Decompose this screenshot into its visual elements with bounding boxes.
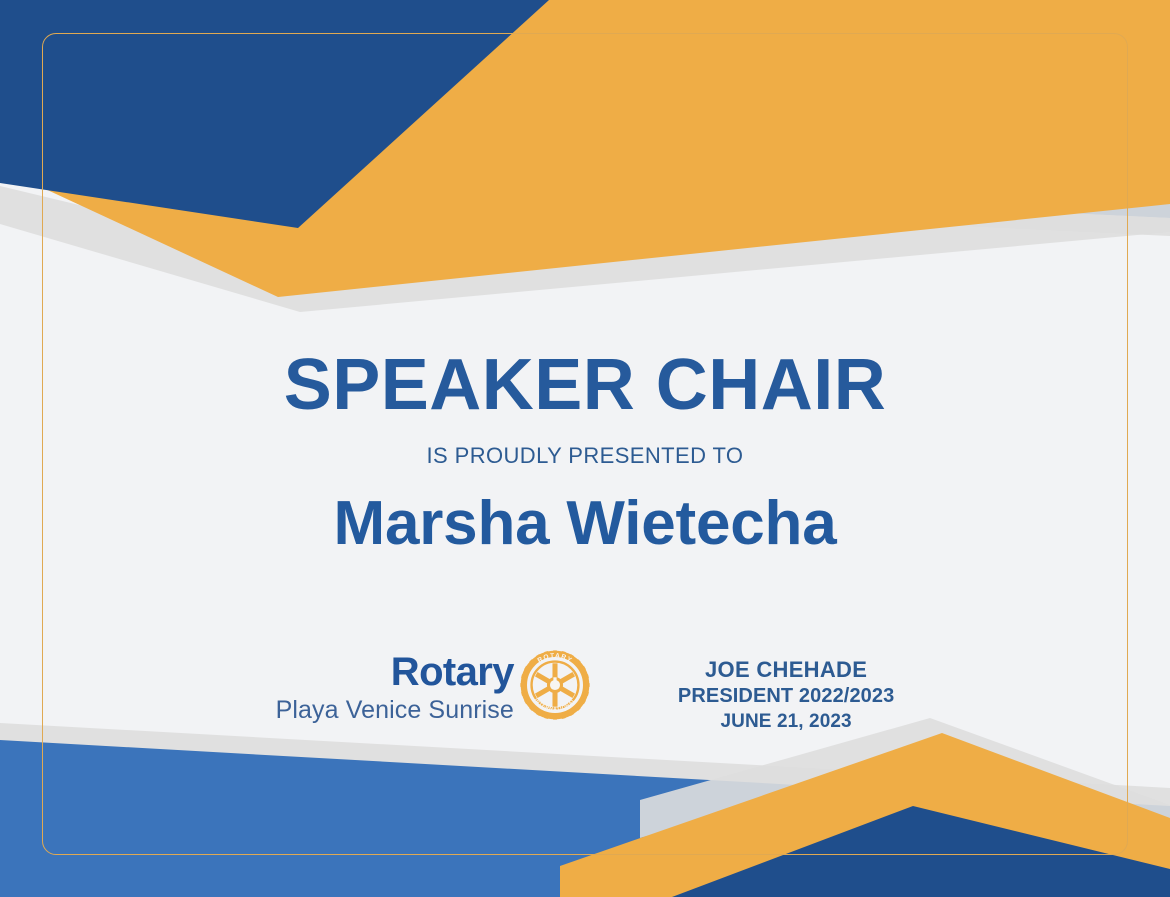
issue-date: JUNE 21, 2023 [678, 710, 894, 734]
certificate-page: SPEAKER CHAIR IS PROUDLY PRESENTED TO Ma… [0, 0, 1170, 897]
rotary-logo: Rotary Playa Venice Sunrise [276, 640, 590, 723]
recipient-name: Marsha Wietecha [0, 488, 1170, 559]
certificate-content: SPEAKER CHAIR IS PROUDLY PRESENTED TO Ma… [0, 0, 1170, 897]
rotary-wordmark: Rotary [391, 652, 514, 693]
signatory-name: JOE CHEHADE [678, 656, 894, 684]
rotary-club-name: Playa Venice Sunrise [276, 697, 514, 723]
presented-to-label: IS PROUDLY PRESENTED TO [0, 445, 1170, 467]
signature-block: JOE CHEHADE PRESIDENT 2022/2023 JUNE 21,… [678, 640, 894, 734]
rotary-wheel-icon: ROTARY INTERNATIONAL [520, 650, 590, 720]
footer-row: Rotary Playa Venice Sunrise [0, 640, 1170, 734]
award-title: SPEAKER CHAIR [0, 349, 1170, 421]
rotary-logo-text: Rotary Playa Venice Sunrise [276, 652, 514, 723]
signatory-role: PRESIDENT 2022/2023 [678, 684, 894, 710]
